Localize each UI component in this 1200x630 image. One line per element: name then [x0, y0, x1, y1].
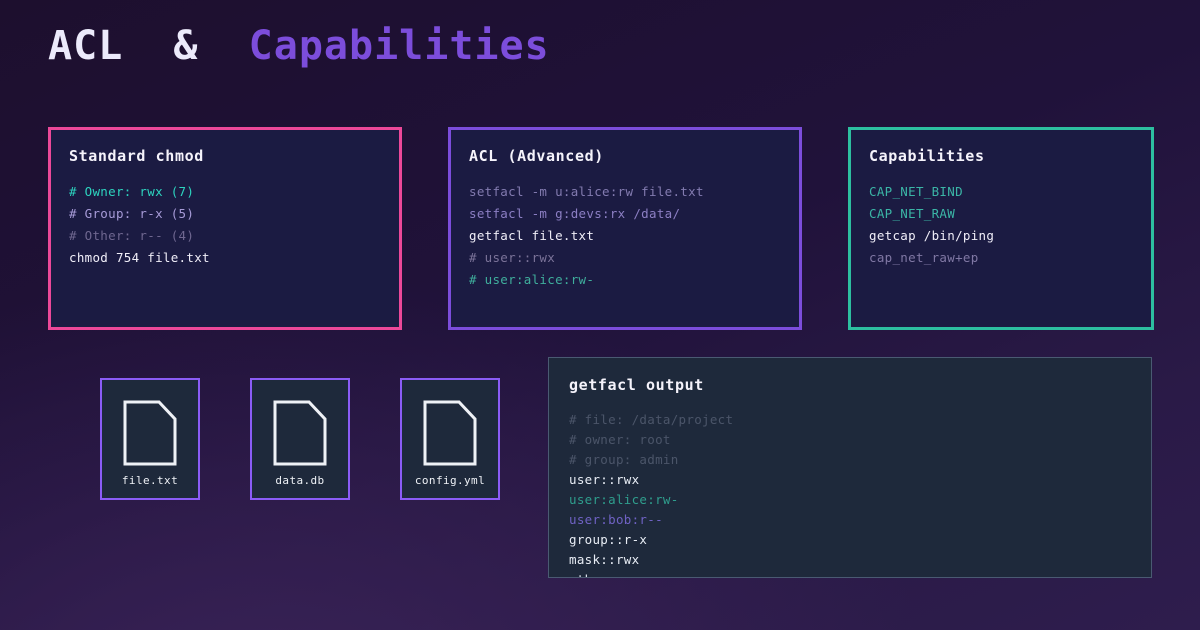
file-card-config-yml[interactable]: config.yml	[400, 378, 500, 500]
code-line: user:alice:rw-	[569, 490, 1143, 510]
file-document-icon	[123, 400, 177, 466]
code-line: setfacl -m g:devs:rx /data/	[469, 203, 791, 225]
panel-capabilities: Capabilities CAP_NET_BIND CAP_NET_RAW ge…	[848, 127, 1154, 330]
code-line: getcap /bin/ping	[869, 225, 1143, 247]
file-card-data-db[interactable]: data.db	[250, 378, 350, 500]
code-block-acl-advanced: setfacl -m u:alice:rw file.txt setfacl -…	[469, 181, 791, 291]
code-line: # user:alice:rw-	[469, 269, 791, 291]
code-block-capabilities: CAP_NET_BIND CAP_NET_RAW getcap /bin/pin…	[869, 181, 1143, 269]
code-line: # Other: r-- (4)	[69, 225, 391, 247]
code-line: other::r--	[569, 570, 1143, 578]
code-block-getfacl-output: # file: /data/project # owner: root # gr…	[569, 410, 1143, 578]
code-block-standard-chmod: # Owner: rwx (7) # Group: r-x (5) # Othe…	[69, 181, 391, 269]
code-line: # owner: root	[569, 430, 1143, 450]
code-line: # file: /data/project	[569, 410, 1143, 430]
panel-acl-advanced: ACL (Advanced) setfacl -m u:alice:rw fil…	[448, 127, 802, 330]
code-line: # user::rwx	[469, 247, 791, 269]
file-card-label: config.yml	[402, 474, 498, 488]
code-line: group::r-x	[569, 530, 1143, 550]
panel-title-standard-chmod: Standard chmod	[69, 147, 204, 165]
panel-standard-chmod: Standard chmod # Owner: rwx (7) # Group:…	[48, 127, 402, 330]
page-title-part-capabilities: Capabilities	[249, 23, 550, 69]
file-card-label: file.txt	[102, 474, 198, 488]
panel-title-capabilities: Capabilities	[869, 147, 985, 165]
code-line: cap_net_raw+ep	[869, 247, 1143, 269]
page-title: ACL & Capabilities	[48, 21, 550, 71]
file-card-file-txt[interactable]: file.txt	[100, 378, 200, 500]
code-line: user::rwx	[569, 470, 1143, 490]
file-document-icon	[273, 400, 327, 466]
code-line: user:bob:r--	[569, 510, 1143, 530]
code-line: CAP_NET_BIND	[869, 181, 1143, 203]
panel-title-acl-advanced: ACL (Advanced)	[469, 147, 604, 165]
page-title-part-acl: ACL &	[48, 23, 249, 69]
code-line: CAP_NET_RAW	[869, 203, 1143, 225]
code-line: chmod 754 file.txt	[69, 247, 391, 269]
panel-getfacl-output: getfacl output # file: /data/project # o…	[548, 357, 1152, 578]
slide-canvas: ACL & Capabilities Standard chmod # Owne…	[0, 0, 1200, 630]
code-line: setfacl -m u:alice:rw file.txt	[469, 181, 791, 203]
code-line: # group: admin	[569, 450, 1143, 470]
panel-title-getfacl-output: getfacl output	[569, 376, 704, 394]
file-document-icon	[423, 400, 477, 466]
code-line: mask::rwx	[569, 550, 1143, 570]
code-line: getfacl file.txt	[469, 225, 791, 247]
code-line: # Group: r-x (5)	[69, 203, 391, 225]
code-line: # Owner: rwx (7)	[69, 181, 391, 203]
file-card-label: data.db	[252, 474, 348, 488]
